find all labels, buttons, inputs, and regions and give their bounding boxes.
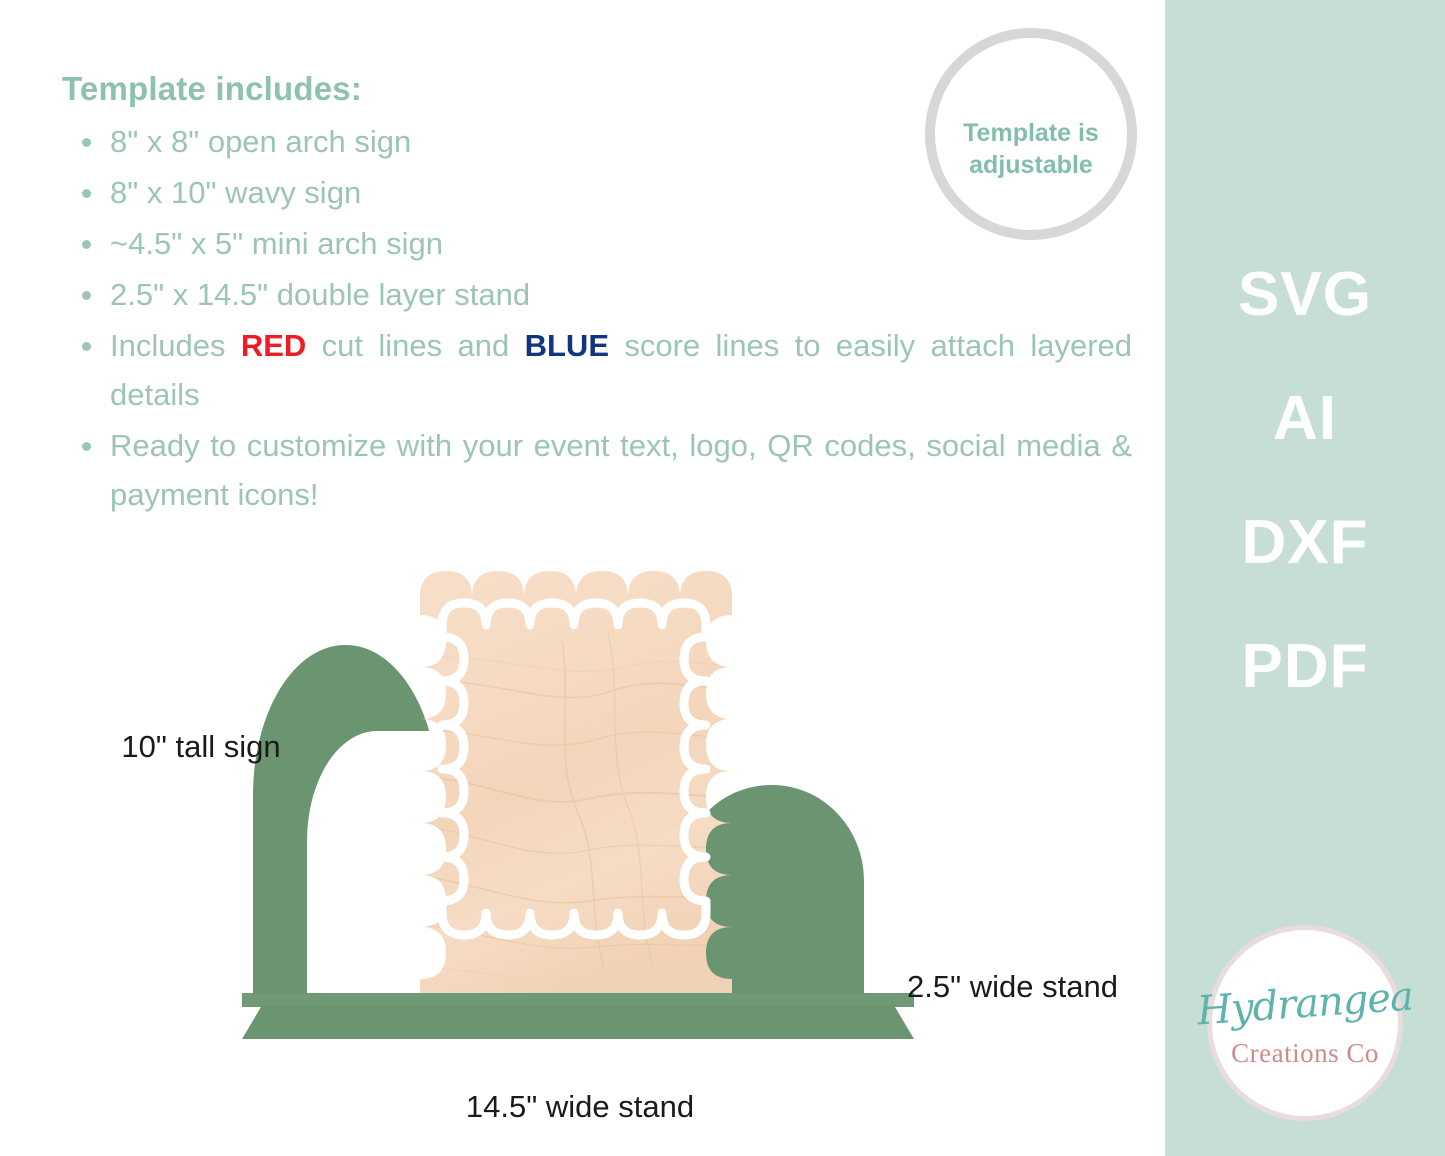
list-item: ~4.5" x 5" mini arch sign	[62, 220, 1132, 269]
wavy-wood-sign	[412, 563, 780, 1003]
list-item-label: 8" x 10" wavy sign	[110, 175, 361, 210]
file-format-dxf: DXF	[1242, 512, 1369, 574]
bullet-dot-icon	[82, 240, 91, 249]
keyword-blue: BLUE	[525, 328, 609, 363]
segment-text: cut lines and	[306, 328, 524, 363]
brand-logo: Hydrangea Creations Co	[1207, 925, 1403, 1121]
list-item-label: 8" x 8" open arch sign	[110, 124, 411, 159]
list-item-label: 2.5" x 14.5" double layer stand	[110, 277, 530, 312]
base-front-face	[242, 1005, 914, 1039]
adjustable-badge-line1: Template is	[963, 119, 1099, 147]
bullet-dot-icon	[82, 291, 91, 300]
template-adjustable-badge: Template isadjustable	[925, 28, 1137, 240]
main-content: Template includes: 8" x 8" open arch sig…	[0, 0, 1165, 1156]
bullet-dot-icon	[82, 442, 91, 451]
wavy-sign-graphic	[412, 563, 780, 1003]
brand-name-sub: Creations Co	[1231, 1038, 1379, 1069]
brand-name-script: Hydrangea	[1196, 976, 1414, 1031]
file-format-svg: SVG	[1238, 264, 1372, 326]
keyword-red: RED	[241, 328, 306, 363]
file-format-list: SVG AI DXF PDF	[1165, 264, 1445, 760]
file-format-pdf: PDF	[1242, 636, 1369, 698]
segment-text: Includes	[110, 328, 241, 363]
open-arch-sign	[253, 645, 438, 1000]
list-item-cut-score-lines: Includes RED cut lines and BLUE score li…	[62, 322, 1132, 420]
bullet-dot-icon	[82, 138, 91, 147]
adjustable-badge-line2: adjustable	[969, 151, 1093, 179]
bullet-dot-icon	[82, 189, 91, 198]
adjustable-badge-label: Template isadjustable	[963, 117, 1099, 181]
list-item: Ready to customize with your event text,…	[62, 422, 1132, 520]
base-top-surface	[242, 993, 914, 1007]
list-item-label: ~4.5" x 5" mini arch sign	[110, 226, 443, 261]
stand-base-platform	[242, 993, 914, 1039]
file-format-ai: AI	[1273, 388, 1337, 450]
annotation-wide-stand: 2.5" wide stand	[905, 965, 1120, 1009]
list-item: 2.5" x 14.5" double layer stand	[62, 271, 1132, 320]
annotation-tall-sign: 10" tall sign	[106, 725, 296, 769]
annotation-base-width: 14.5" wide stand	[370, 1085, 790, 1129]
list-item-label: Ready to customize with your event text,…	[110, 422, 1132, 520]
file-formats-sidebar: SVG AI DXF PDF Hydrangea Creations Co	[1165, 0, 1445, 1156]
bullet-dot-icon	[82, 342, 91, 351]
